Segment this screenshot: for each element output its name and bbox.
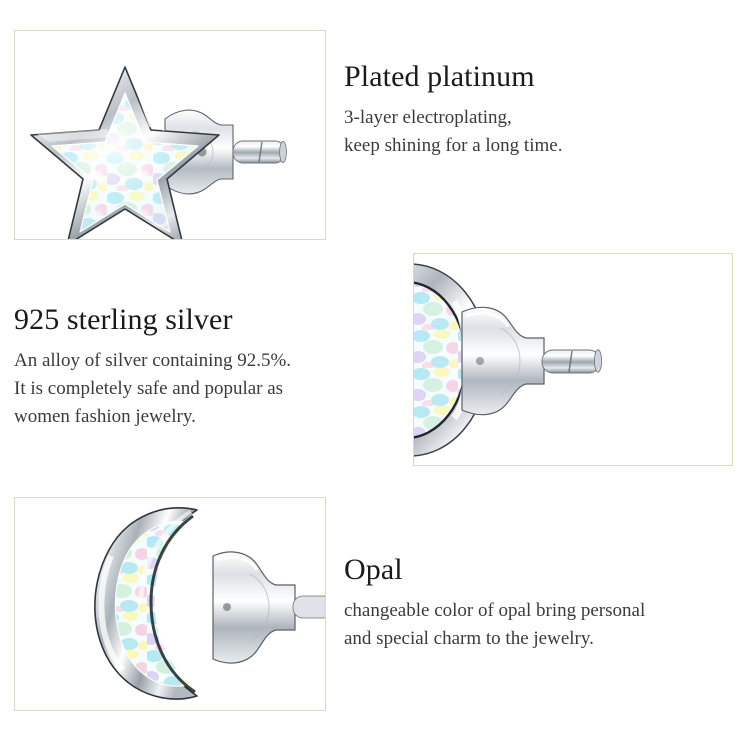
feature-title-plated-platinum: Plated platinum <box>344 60 734 95</box>
round-opal-stud-earring-illustration <box>414 254 733 466</box>
feature-block-opal: Opal changeable color of opal bring pers… <box>344 553 744 653</box>
product-photo-moon <box>14 497 326 711</box>
star-bezel <box>31 67 219 240</box>
desc-line: women fashion jewelry. <box>14 403 384 431</box>
infographic-canvas: Plated platinum 3-layer electroplating, … <box>0 0 750 750</box>
earring-butterfly-back <box>213 552 326 663</box>
feature-block-sterling-silver: 925 sterling silver An alloy of silver c… <box>14 303 384 431</box>
desc-line: changeable color of opal bring personal <box>344 597 744 625</box>
feature-block-plated-platinum: Plated platinum 3-layer electroplating, … <box>344 60 734 160</box>
product-photo-star <box>14 30 326 240</box>
moon-opal-stud-earring-illustration <box>15 498 326 711</box>
star-opal-stud-earring-illustration <box>15 31 326 240</box>
desc-line: keep shining for a long time. <box>344 132 734 160</box>
feature-title-sterling-silver: 925 sterling silver <box>14 303 384 338</box>
desc-line: It is completely safe and popular as <box>14 375 384 403</box>
feature-desc-opal: changeable color of opal bring personal … <box>344 597 744 653</box>
earring-butterfly-back <box>462 307 602 414</box>
feature-title-opal: Opal <box>344 553 744 588</box>
product-photo-round <box>413 253 733 466</box>
feature-desc-plated-platinum: 3-layer electroplating, keep shining for… <box>344 104 734 160</box>
desc-line: An alloy of silver containing 92.5%. <box>14 347 384 375</box>
feature-desc-sterling-silver: An alloy of silver containing 92.5%. It … <box>14 347 384 431</box>
desc-line: 3-layer electroplating, <box>344 104 734 132</box>
desc-line: and special charm to the jewelry. <box>344 625 744 653</box>
moon-bezel <box>95 508 197 699</box>
